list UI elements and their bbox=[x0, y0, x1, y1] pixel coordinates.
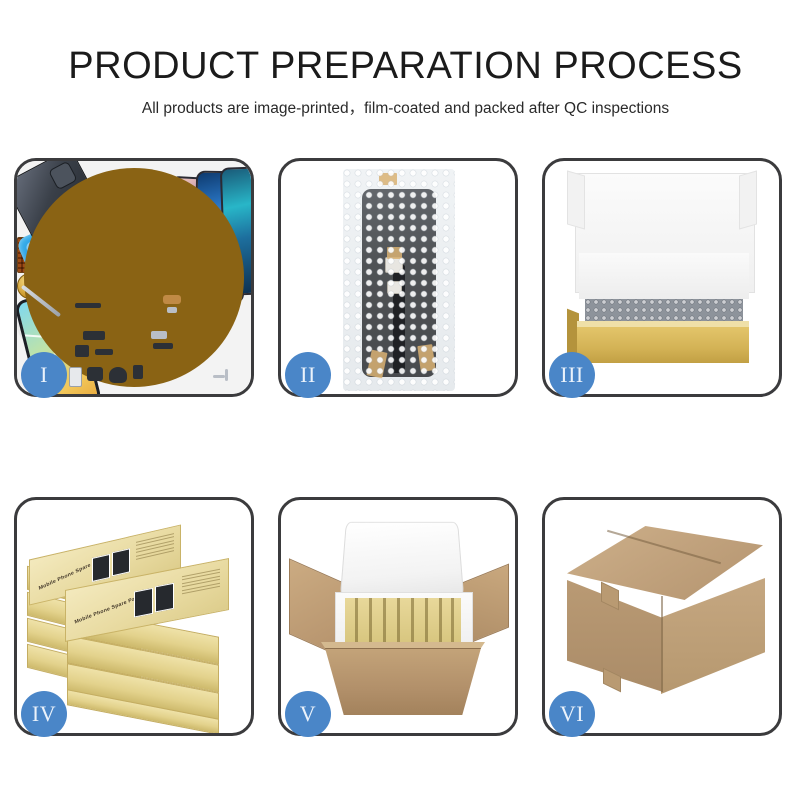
bubble-texture bbox=[343, 169, 455, 391]
part-chip bbox=[87, 367, 103, 381]
lid-flap-left-graphic bbox=[567, 170, 585, 229]
part-chip bbox=[151, 331, 167, 339]
header: PRODUCT PREPARATION PROCESS All products… bbox=[0, 44, 811, 120]
part-chip bbox=[95, 349, 113, 355]
page-subtitle: All products are image-printed，film-coat… bbox=[0, 98, 811, 120]
process-step-grid: I II bbox=[14, 158, 797, 736]
page-title: PRODUCT PREPARATION PROCESS bbox=[0, 44, 811, 88]
carton-body-graphic bbox=[325, 648, 481, 715]
part-chip bbox=[163, 295, 181, 304]
product-preparation-infographic: PRODUCT PREPARATION PROCESS All products… bbox=[0, 0, 811, 811]
part-chip bbox=[109, 367, 127, 383]
box-product-image bbox=[134, 588, 153, 618]
step-5-numeral-badge: V bbox=[285, 691, 331, 737]
box-brand-text: Mobile Phone Spare Parts bbox=[74, 594, 143, 626]
process-step-4: Mobile Phone Spare Parts Mobile Phone Sp… bbox=[14, 497, 254, 736]
lid-flap-right-graphic bbox=[739, 170, 757, 229]
foam-lid-graphic bbox=[340, 522, 464, 598]
step-4-numeral-badge: IV bbox=[21, 691, 67, 737]
part-chip bbox=[213, 375, 225, 378]
carton-top-face-graphic bbox=[567, 526, 763, 600]
inner-foam-graphic bbox=[579, 253, 749, 299]
process-step-1: I bbox=[14, 158, 254, 397]
step-1-numeral-badge: I bbox=[21, 352, 67, 398]
part-chip bbox=[69, 367, 82, 387]
carton-seam bbox=[661, 596, 663, 692]
box-spec-lines bbox=[136, 533, 174, 562]
gold-boxes-inside-graphic bbox=[345, 598, 461, 648]
box-product-image bbox=[112, 548, 130, 576]
step-3-numeral-badge: III bbox=[549, 352, 595, 398]
part-chip bbox=[83, 331, 105, 340]
process-step-3: III bbox=[542, 158, 782, 397]
part-chip bbox=[75, 345, 89, 357]
part-chip bbox=[167, 307, 177, 313]
step-2-numeral-badge: II bbox=[285, 352, 331, 398]
part-chip bbox=[75, 303, 101, 308]
process-step-5: V bbox=[278, 497, 518, 736]
process-step-6: VI bbox=[542, 497, 782, 736]
gold-box-stack-graphic: Mobile Phone Spare Parts Mobile Phone Sp… bbox=[25, 518, 249, 722]
bubble-wrap-bag-graphic bbox=[343, 169, 455, 391]
part-chip bbox=[225, 369, 228, 381]
gold-box-front-graphic bbox=[577, 327, 749, 363]
step-6-numeral-badge: VI bbox=[549, 691, 595, 737]
process-step-2: II bbox=[278, 158, 518, 397]
part-chip bbox=[153, 343, 173, 349]
box-spec-lines bbox=[182, 569, 220, 597]
box-product-image bbox=[92, 554, 110, 582]
box-product-image bbox=[155, 583, 174, 613]
part-chip bbox=[133, 365, 143, 379]
